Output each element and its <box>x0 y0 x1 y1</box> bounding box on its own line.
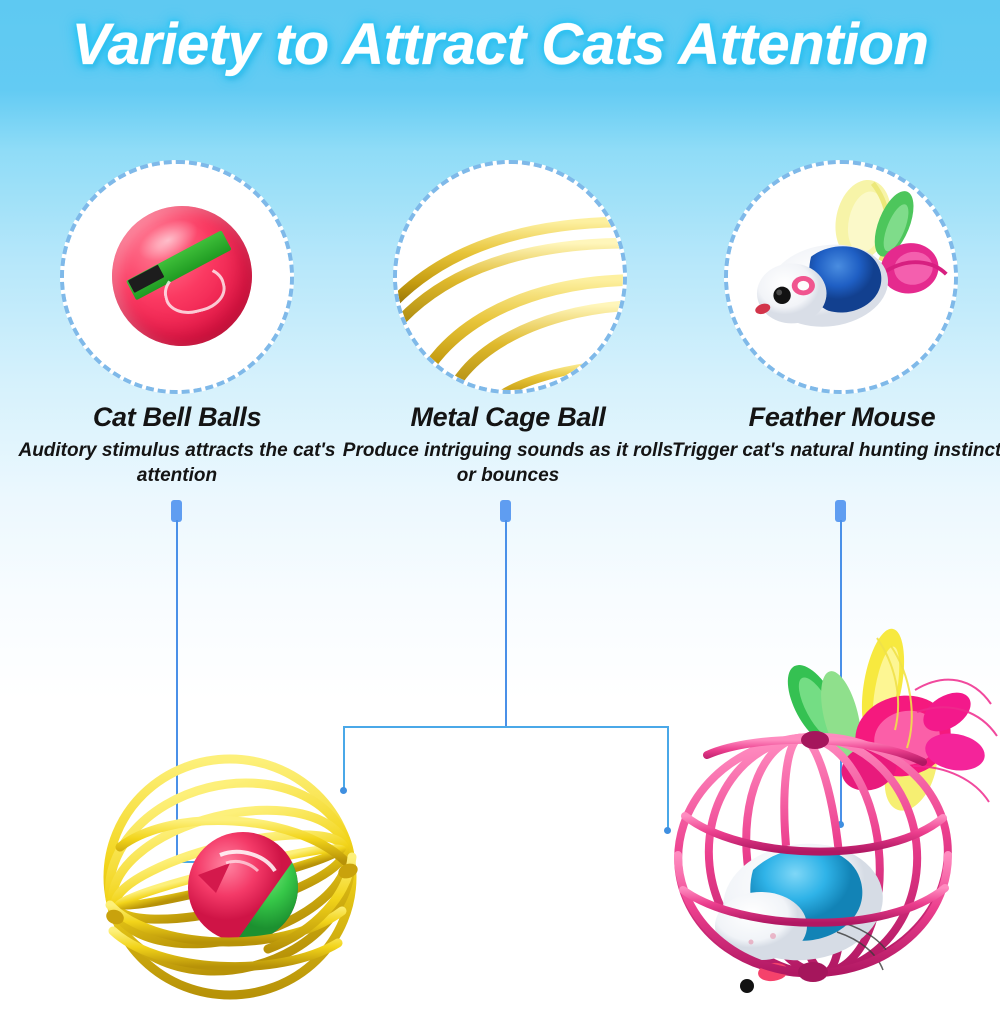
feature-heading: Cat Bell Balls <box>7 401 347 433</box>
feature-description: Produce intriguing sounds as it rolls or… <box>338 438 678 488</box>
gold-wire-closeup-image <box>397 164 623 390</box>
gold-wire-graphic <box>397 164 623 390</box>
connector-bracket-horizontal <box>343 726 669 728</box>
yellow-cage-ball-image <box>80 735 380 1015</box>
feature-circle-metal-cage-ball <box>393 160 627 394</box>
feature-caption-metal-cage-ball: Metal Cage Ball Produce intriguing sound… <box>338 401 678 488</box>
feather-plume <box>777 626 997 818</box>
bell-ball-closeup-image <box>64 164 290 390</box>
feature-heading: Metal Cage Ball <box>338 401 678 433</box>
pink-cage-ball-image <box>655 620 1000 1005</box>
plush-feather-mouse-closeup-image <box>728 164 954 390</box>
feature-heading: Feather Mouse <box>672 401 1000 433</box>
bell-ball-graphic <box>105 199 259 353</box>
connector-tab-left <box>171 500 182 522</box>
feature-caption-feather-mouse: Feather Mouse Trigger cat's natural hunt… <box>672 401 1000 463</box>
feature-circle-cat-bell-balls <box>60 160 294 394</box>
connector-tab-middle <box>500 500 511 522</box>
feature-circle-feather-mouse <box>724 160 958 394</box>
connector-line-middle <box>505 520 507 727</box>
feature-description: Auditory stimulus attracts the cat's att… <box>7 438 347 488</box>
feature-description: Trigger cat's natural hunting instincts <box>672 438 1000 463</box>
infographic-canvas: Variety to Attract Cats Attention <box>0 0 1000 1000</box>
page-title: Variety to Attract Cats Attention <box>0 12 1000 78</box>
title-banner: Variety to Attract Cats Attention <box>0 0 1000 92</box>
connector-tab-right <box>835 500 846 522</box>
plush-mouse-graphic <box>728 164 954 390</box>
feature-caption-cat-bell-balls: Cat Bell Balls Auditory stimulus attract… <box>7 401 347 488</box>
